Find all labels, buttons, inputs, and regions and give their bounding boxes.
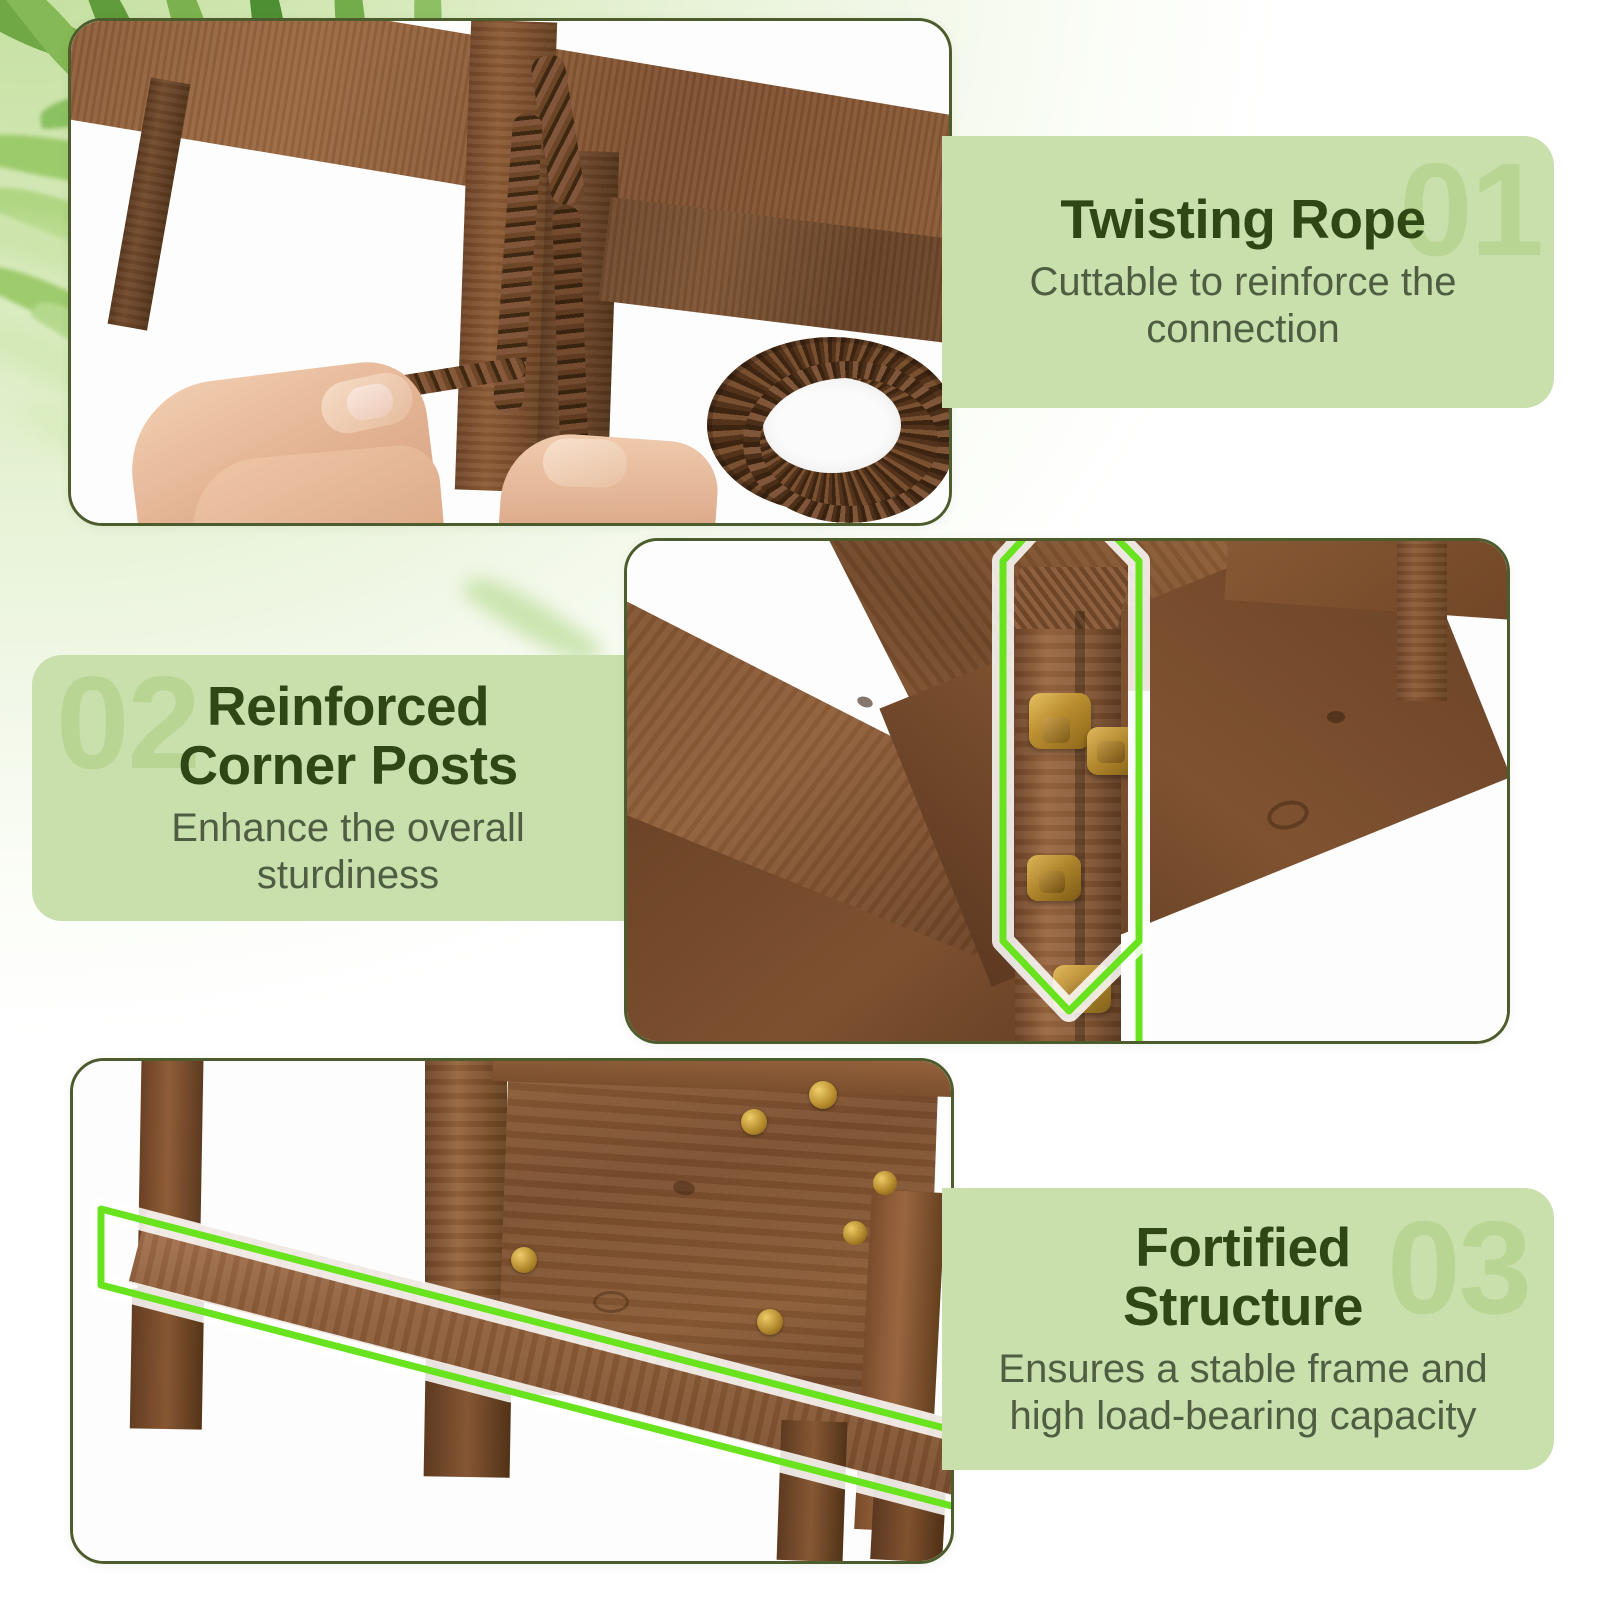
screw-icon — [757, 1309, 783, 1335]
feature-subtitle-3: Ensures a stable frame and high load-bea… — [972, 1346, 1514, 1440]
photo-corner-post — [627, 541, 1507, 1041]
feature-title-3-line2: Structure — [972, 1277, 1514, 1336]
feature-subtitle-2: Enhance the overall sturdiness — [76, 805, 620, 899]
feature-photo-card-1 — [68, 18, 952, 526]
feature-text-panel-3: 03 Fortified Structure Ensures a stable … — [942, 1188, 1554, 1470]
screw-icon — [741, 1109, 767, 1135]
feature-title-2-line2: Corner Posts — [76, 736, 620, 795]
feature-title-1: Twisting Rope — [976, 190, 1510, 249]
screw-icon — [809, 1081, 837, 1109]
feature-subtitle-1: Cuttable to reinforce the connection — [976, 259, 1510, 353]
feature-title-3-line1: Fortified — [972, 1218, 1514, 1277]
bolt-icon — [1039, 871, 1065, 893]
bolt-icon — [1097, 741, 1125, 763]
bolt-icon — [1042, 717, 1070, 743]
feature-text-panel-1: 01 Twisting Rope Cuttable to reinforce t… — [942, 136, 1554, 408]
screw-icon — [843, 1221, 867, 1245]
feature-title-3: Fortified Structure — [972, 1218, 1514, 1336]
photo-twisting-rope — [71, 21, 949, 523]
bolt-icon — [1067, 981, 1095, 1005]
infographic-canvas: 01 Twisting Rope Cuttable to reinforce t… — [0, 0, 1600, 1600]
feature-title-2-line1: Reinforced — [76, 677, 620, 736]
feature-text-panel-2: 02 Reinforced Corner Posts Enhance the o… — [32, 655, 646, 921]
photo-fortified-structure — [73, 1061, 951, 1561]
feature-title-2: Reinforced Corner Posts — [76, 677, 620, 795]
feature-photo-card-3 — [70, 1058, 954, 1564]
feature-photo-card-2 — [624, 538, 1510, 1044]
screw-icon — [873, 1171, 897, 1195]
screw-icon — [511, 1247, 537, 1273]
